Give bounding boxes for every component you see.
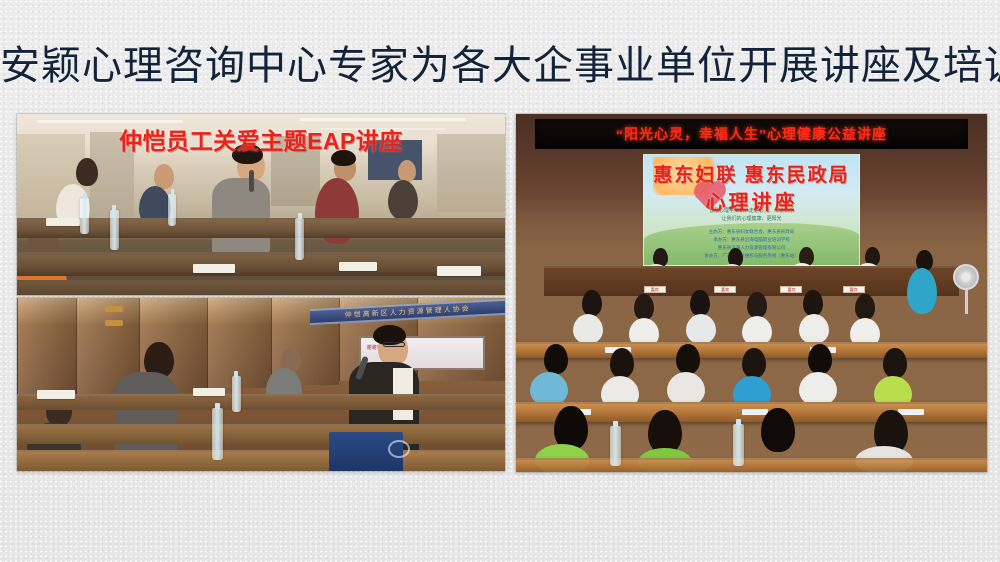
ceiling-light bbox=[300, 118, 466, 121]
seminar-desk bbox=[17, 450, 505, 471]
water-bottle bbox=[212, 408, 223, 460]
stage-table: 嘉宾 嘉宾 嘉宾 嘉宾 bbox=[544, 266, 958, 296]
audience-head bbox=[803, 290, 823, 316]
water-bottle bbox=[733, 424, 744, 466]
name-card-text: 嘉宾 bbox=[715, 287, 735, 293]
fan-blade bbox=[953, 264, 979, 290]
photo-hr-association-seminar[interactable]: 仲恺高新区人力资源管理人协会 谢谢！ bbox=[17, 298, 505, 471]
name-card: 嘉宾 bbox=[843, 286, 865, 293]
document bbox=[437, 266, 481, 276]
photo-public-welfare-lecture-hall[interactable]: “阳光心灵，幸福人生”心理健康公益讲座 普及心理学知识，走进心灵、传递快乐 让我… bbox=[516, 114, 987, 472]
audience-head bbox=[855, 294, 875, 320]
speaker-body bbox=[212, 178, 270, 254]
name-card: 嘉宾 bbox=[780, 286, 802, 293]
audience-bench-front bbox=[516, 458, 987, 472]
audience-body bbox=[799, 372, 837, 406]
audience-body bbox=[667, 372, 705, 406]
name-card: 嘉宾 bbox=[644, 286, 666, 293]
audience-body bbox=[799, 314, 829, 344]
conference-desk bbox=[17, 218, 505, 238]
audience-head bbox=[690, 290, 710, 316]
person-body bbox=[388, 180, 418, 220]
screen-credit-line: 主办方：惠东县妇女联合会、惠东县民政局 bbox=[644, 229, 859, 235]
screen-credit-line: 惠东县沿海人力资源管理有限公司 bbox=[644, 245, 859, 251]
audience-body bbox=[573, 314, 603, 344]
audience-head bbox=[544, 344, 568, 374]
page-title: 安颖心理咨询中心专家为各大企事业单位开展讲座及培训 bbox=[0, 38, 1000, 94]
seminar-desk bbox=[17, 424, 505, 444]
photo-caption-overlay: 仲恺员工关爱主题EAP讲座 bbox=[119, 122, 403, 156]
photo-conference-room-eap-lecture[interactable]: 仲恺员工关爱主题EAP讲座 bbox=[17, 114, 505, 295]
wood-wall-panel bbox=[207, 298, 270, 388]
fan-pole bbox=[965, 290, 968, 314]
photo-scene: “阳光心灵，幸福人生”心理健康公益讲座 普及心理学知识，走进心灵、传递快乐 让我… bbox=[516, 114, 987, 472]
wall-panel bbox=[437, 134, 505, 212]
conference-desk bbox=[17, 280, 505, 295]
document bbox=[193, 388, 225, 396]
microphone bbox=[249, 170, 254, 192]
name-card-text: 嘉宾 bbox=[781, 287, 801, 293]
caption-organizers: 惠东妇联 惠东民政局 bbox=[653, 160, 849, 187]
conference-desk bbox=[17, 252, 505, 276]
led-banner: “阳光心灵，幸福人生”心理健康公益讲座 bbox=[535, 119, 968, 149]
water-bottle bbox=[295, 218, 304, 260]
seminar-desk bbox=[17, 394, 505, 410]
screen-subtitle-2: 让我们的心理健康、更阳光 bbox=[644, 215, 859, 222]
handout bbox=[898, 409, 924, 415]
person-head bbox=[76, 158, 98, 186]
person-head bbox=[398, 160, 416, 182]
door-frame bbox=[105, 306, 123, 312]
audience-head bbox=[676, 344, 700, 374]
audience-head bbox=[747, 292, 767, 318]
document bbox=[339, 262, 377, 271]
audience-head bbox=[634, 294, 654, 320]
screen-credit-line: 协办方：广东省妇女维权与服务热线（惠东站） bbox=[644, 253, 859, 259]
name-card-text: 嘉宾 bbox=[645, 287, 665, 293]
audience-head bbox=[742, 348, 766, 378]
document bbox=[46, 218, 80, 226]
photo-scene: 仲恺高新区人力资源管理人协会 谢谢！ bbox=[17, 298, 505, 471]
name-card: 嘉宾 bbox=[714, 286, 736, 293]
audience-head bbox=[808, 344, 832, 374]
tote-bag-logo bbox=[388, 440, 410, 458]
water-bottle bbox=[232, 376, 241, 412]
water-bottle bbox=[80, 198, 89, 234]
standing-fan bbox=[953, 264, 979, 314]
standing-person-body bbox=[907, 268, 937, 314]
audience-head bbox=[761, 408, 795, 452]
led-banner-text: “阳光心灵，幸福人生”心理健康公益讲座 bbox=[616, 124, 887, 144]
name-card-text: 嘉宾 bbox=[844, 287, 864, 293]
audience-body bbox=[686, 314, 716, 344]
audience-head bbox=[582, 290, 602, 316]
screen-credit-line: 承办方：惠东县沿海电脑职业培训学校 bbox=[644, 237, 859, 243]
document bbox=[37, 390, 75, 399]
water-bottle bbox=[610, 426, 621, 466]
water-bottle bbox=[110, 210, 119, 250]
audience-head bbox=[610, 348, 634, 378]
handout bbox=[742, 409, 768, 415]
eyeglasses bbox=[383, 342, 405, 347]
audience-body bbox=[530, 372, 568, 406]
photo-scene: 仲恺员工关爱主题EAP讲座 bbox=[17, 114, 505, 295]
audience-head bbox=[883, 348, 907, 378]
audience-bench bbox=[516, 402, 987, 422]
door-frame bbox=[105, 320, 123, 326]
caption-topic: 心理讲座 bbox=[706, 186, 798, 215]
water-bottle bbox=[168, 194, 176, 226]
document bbox=[193, 264, 235, 273]
